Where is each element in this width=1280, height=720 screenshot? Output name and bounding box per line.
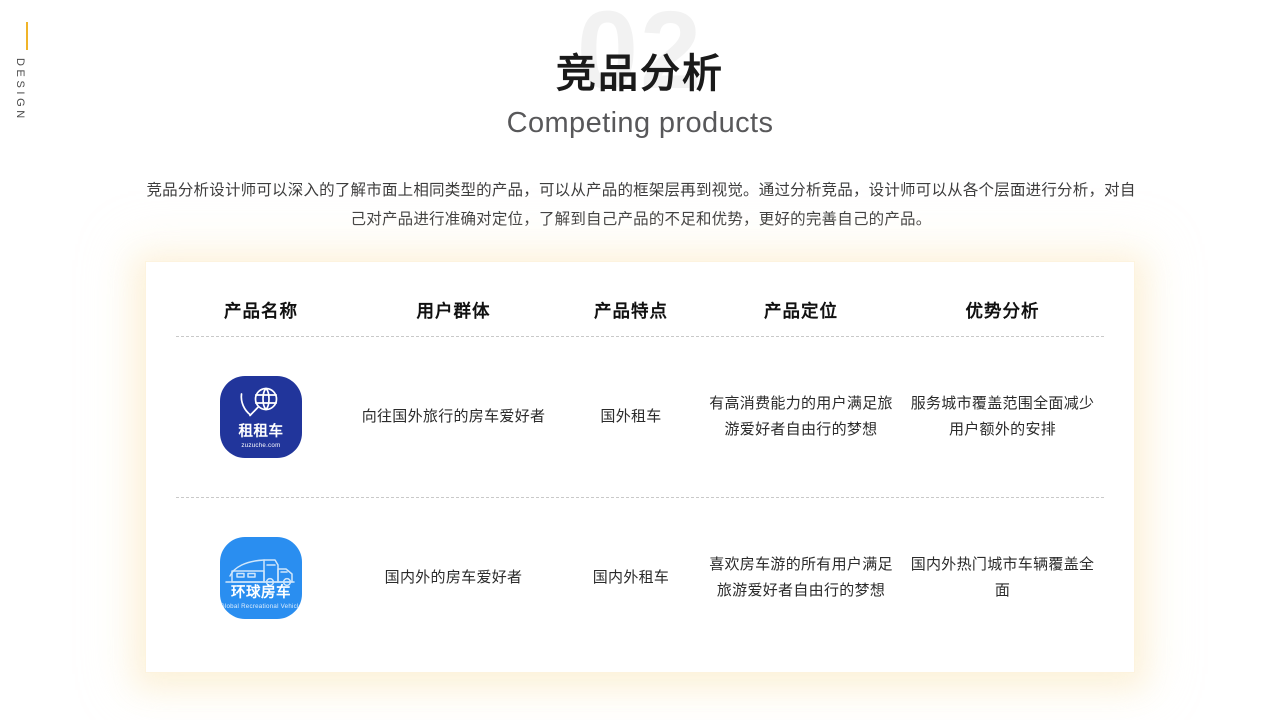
cell-user-group: 向往国外旅行的房车爱好者 bbox=[346, 404, 561, 430]
table-row: 环球房车 Global Recreational Vehicle 国内外的房车爱… bbox=[176, 498, 1104, 658]
cell-advantages: 国内外热门城市车辆覆盖全面 bbox=[901, 552, 1104, 604]
logo-name: 环球房车 bbox=[231, 586, 291, 601]
column-header-product-name: 产品名称 bbox=[176, 298, 346, 323]
logo-sub: Global Recreational Vehicle bbox=[220, 604, 302, 610]
logo-zuzuche: 租租车 zuzuche.com bbox=[220, 376, 302, 458]
column-header-advantages: 优势分析 bbox=[901, 298, 1104, 323]
magnifier-globe-icon bbox=[220, 380, 302, 426]
comparison-card: 产品名称 用户群体 产品特点 产品定位 优势分析 bbox=[146, 262, 1134, 672]
table-header-row: 产品名称 用户群体 产品特点 产品定位 优势分析 bbox=[176, 284, 1104, 336]
cell-advantages: 服务城市覆盖范围全面减少用户额外的安排 bbox=[901, 391, 1104, 443]
product-logo-cell: 租租车 zuzuche.com bbox=[176, 376, 346, 458]
table-row: 租租车 zuzuche.com 向往国外旅行的房车爱好者 国外租车 有高消费能力… bbox=[176, 337, 1104, 497]
logo-global-rv: 环球房车 Global Recreational Vehicle bbox=[220, 537, 302, 619]
cell-user-group: 国内外的房车爱好者 bbox=[346, 565, 561, 591]
cell-positioning: 有高消费能力的用户满足旅游爱好者自由行的梦想 bbox=[701, 391, 901, 443]
cell-features: 国内外租车 bbox=[561, 565, 701, 591]
intro-paragraph: 竞品分析设计师可以深入的了解市面上相同类型的产品，可以从产品的框架层再到视觉。通… bbox=[140, 176, 1142, 234]
column-header-user-group: 用户群体 bbox=[346, 298, 561, 323]
column-header-positioning: 产品定位 bbox=[701, 298, 901, 323]
rv-camper-icon bbox=[220, 541, 302, 587]
page-title: 竞品分析 bbox=[0, 52, 1280, 96]
cell-positioning: 喜欢房车游的所有用户满足旅游爱好者自由行的梦想 bbox=[701, 552, 901, 604]
product-logo-cell: 环球房车 Global Recreational Vehicle bbox=[176, 537, 346, 619]
logo-sub: zuzuche.com bbox=[241, 443, 280, 449]
slide-header: 02 竞品分析 Competing products bbox=[0, 0, 1280, 160]
column-header-features: 产品特点 bbox=[561, 298, 701, 323]
cell-features: 国外租车 bbox=[561, 404, 701, 430]
logo-name: 租租车 bbox=[239, 425, 284, 440]
comparison-table: 产品名称 用户群体 产品特点 产品定位 优势分析 bbox=[176, 284, 1104, 658]
page-subtitle: Competing products bbox=[0, 106, 1280, 141]
